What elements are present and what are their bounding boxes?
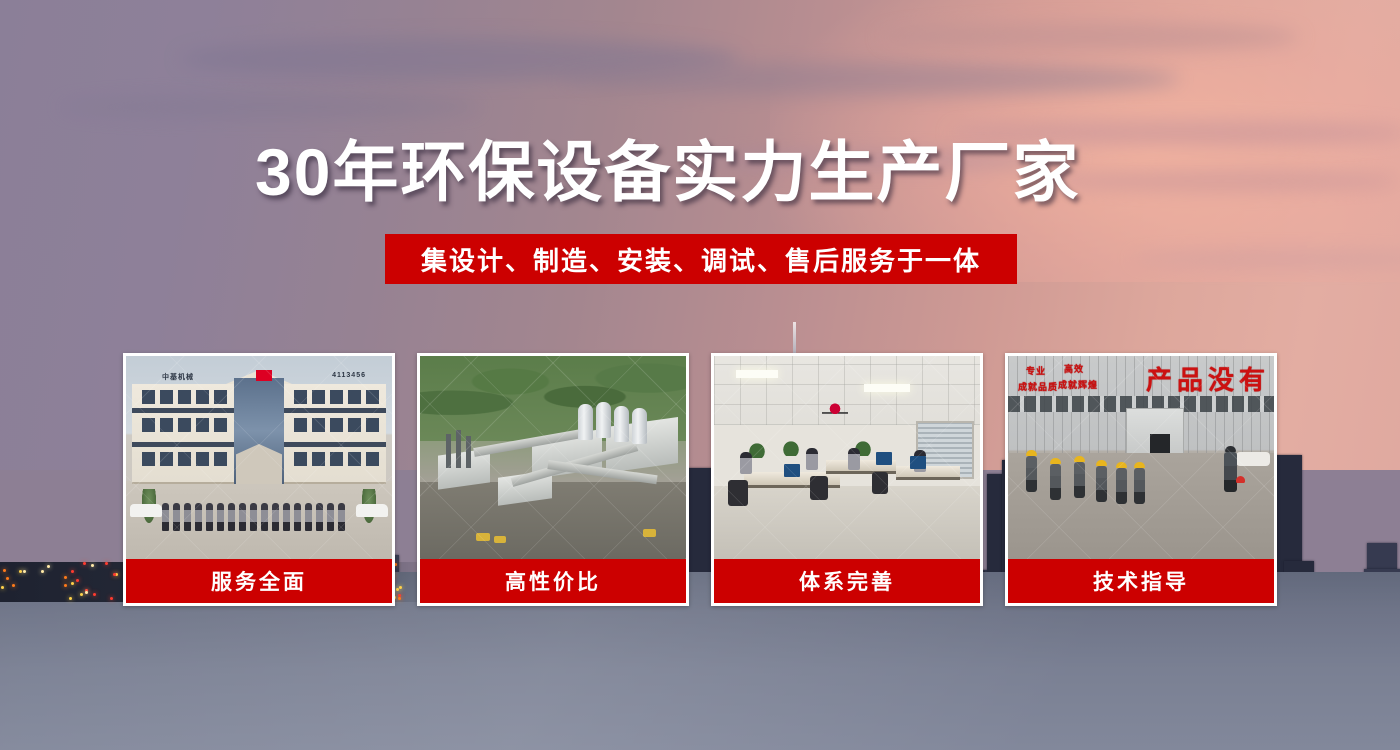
card-caption: 体系完善	[714, 559, 980, 603]
factory-slogan-3: 高效	[1064, 362, 1084, 375]
illustration-office-building: 中基机械 4113456	[126, 356, 392, 559]
cloud	[60, 95, 480, 119]
feature-card[interactable]: 产品没有 专业 成就品质 高效 成就辉煌 技术指导	[1005, 353, 1277, 606]
cloud	[880, 22, 1300, 52]
factory-slogan-2: 成就品质	[1018, 380, 1058, 393]
feature-card[interactable]: 高性价比	[417, 353, 689, 606]
card-photo-aerial-plant	[420, 356, 686, 559]
cloud	[560, 62, 1180, 96]
illustration-worker-training: 产品没有 专业 成就品质 高效 成就辉煌	[1008, 356, 1274, 559]
card-caption: 高性价比	[420, 559, 686, 603]
building-sign-text: 中基机械	[162, 372, 194, 382]
card-photo-office-interior	[714, 356, 980, 559]
hero-banner: 30年环保设备实力生产厂家 集设计、制造、安装、调试、售后服务于一体 中基机械 …	[0, 0, 1400, 750]
factory-slogan-4: 成就辉煌	[1058, 378, 1098, 391]
subtitle-text: 集设计、制造、安装、调试、售后服务于一体	[421, 241, 981, 278]
subtitle-ribbon: 集设计、制造、安装、调试、售后服务于一体	[385, 234, 1017, 284]
feature-card[interactable]: 体系完善	[711, 353, 983, 606]
building-phone-text: 4113456	[332, 372, 366, 379]
factory-slogan-main: 产品没有	[1146, 360, 1270, 397]
page-title: 30年环保设备实力生产厂家	[255, 133, 1155, 211]
factory-slogan-1: 专业	[1026, 364, 1046, 377]
card-photo-worker-training: 产品没有 专业 成就品质 高效 成就辉煌	[1008, 356, 1274, 559]
feature-card-row: 中基机械 4113456 服务全面	[123, 353, 1277, 606]
card-photo-office-building: 中基机械 4113456	[126, 356, 392, 559]
card-caption: 技术指导	[1008, 559, 1274, 603]
card-caption: 服务全面	[126, 559, 392, 603]
illustration-office-interior	[714, 356, 980, 559]
feature-card[interactable]: 中基机械 4113456 服务全面	[123, 353, 395, 606]
wall-emblem-icon	[822, 400, 848, 422]
illustration-aerial-plant	[420, 356, 686, 559]
